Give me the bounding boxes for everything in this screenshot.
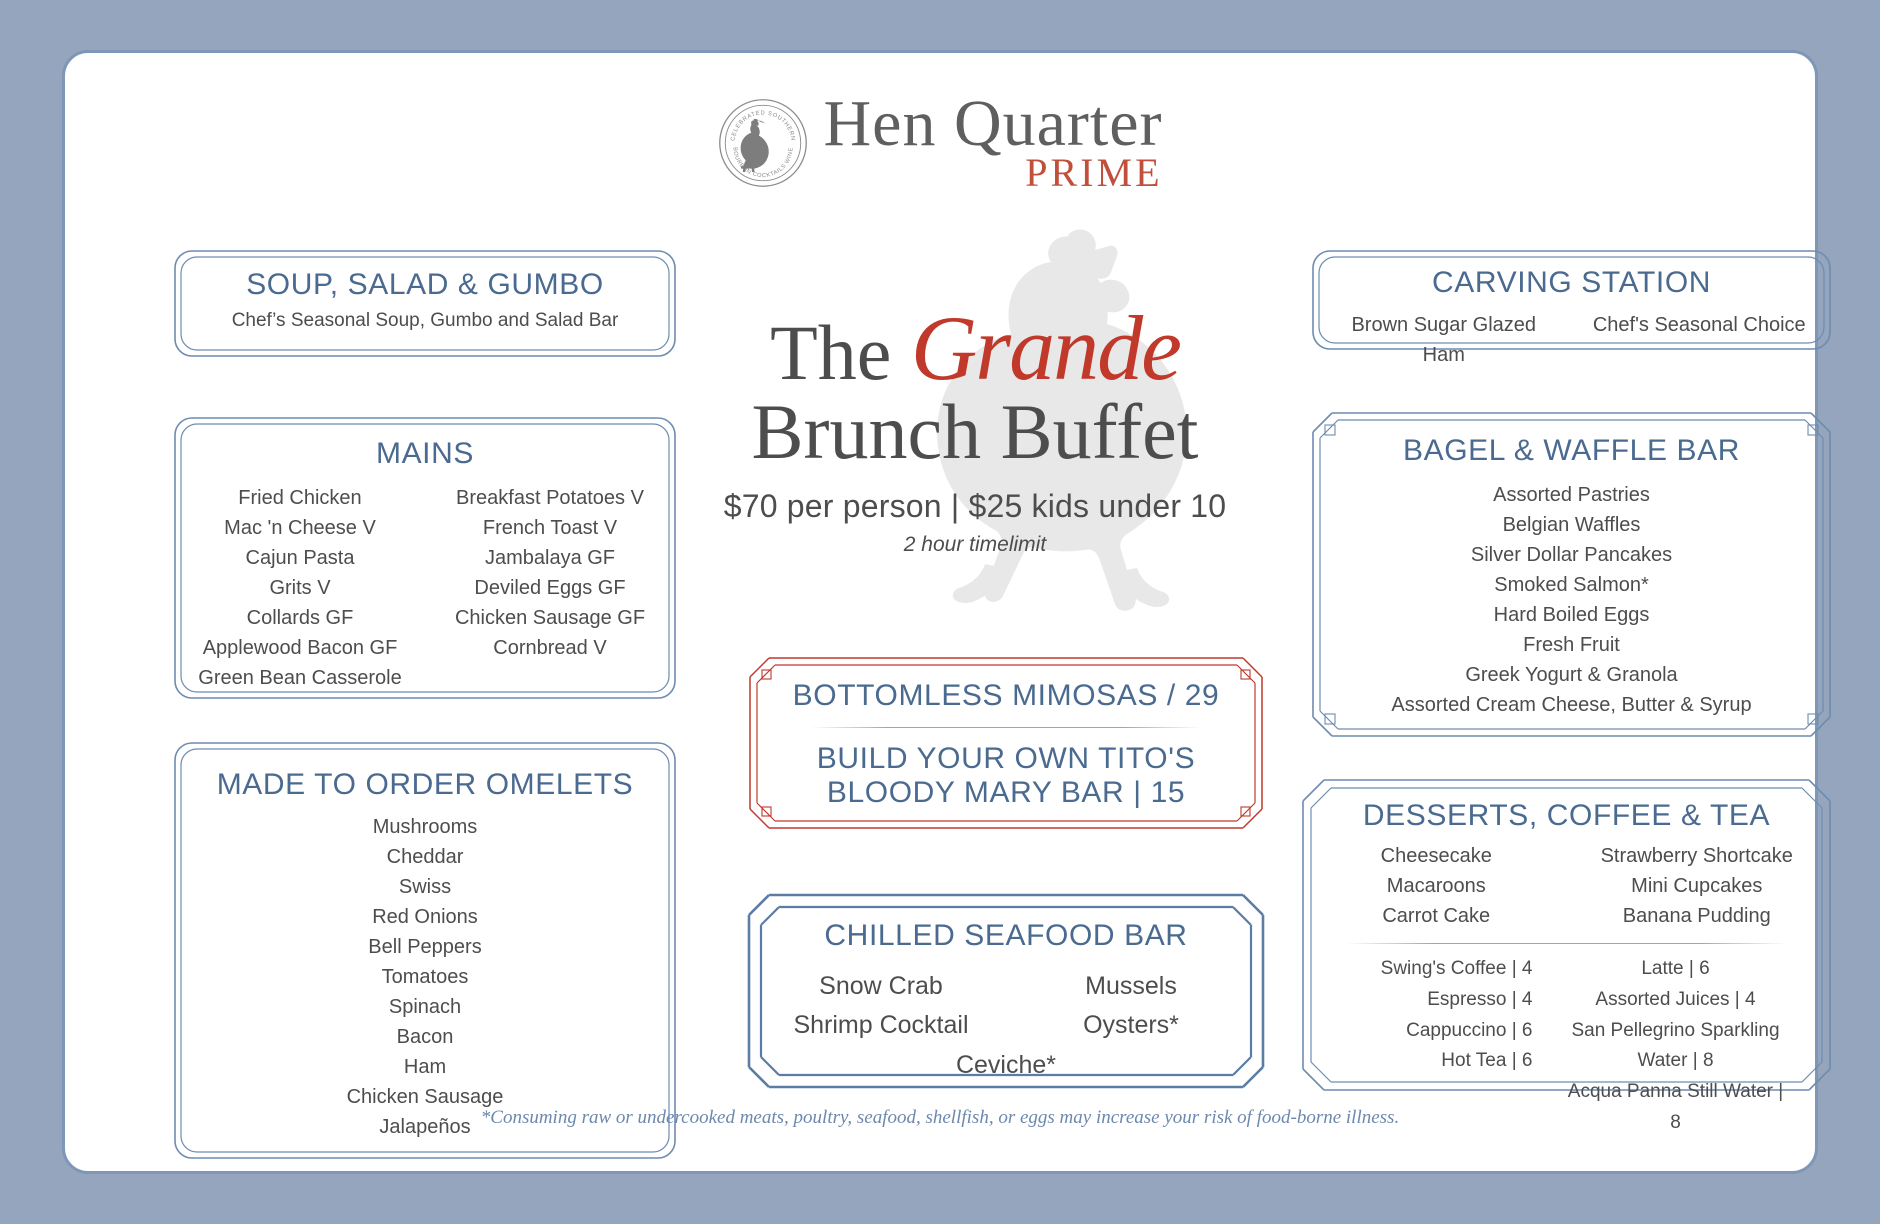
seafood-item: Snow Crab bbox=[771, 967, 991, 1006]
drink-item: Assorted Juices | 4 bbox=[1561, 985, 1791, 1016]
mains-item: Cajun Pasta bbox=[196, 543, 404, 573]
omelets-item: Swiss bbox=[196, 872, 654, 902]
mimosas-divider bbox=[811, 727, 1201, 728]
desserts-left-column: Cheesecake Macaroons Carrot Cake bbox=[1324, 841, 1549, 931]
mains-item: Mac 'n Cheese V bbox=[196, 513, 404, 543]
seafood-item-ceviche: Ceviche* bbox=[771, 1047, 1241, 1085]
menu-page: CELEBRATED SOUTHERN BOURBON COCKTAILS WI… bbox=[62, 50, 1818, 1174]
dessert-item: Carrot Cake bbox=[1324, 901, 1549, 931]
bloody-mary-line-1: BUILD YOUR OWN TITO'S bbox=[771, 742, 1241, 776]
bagel-item: Greek Yogurt & Granola bbox=[1334, 660, 1809, 690]
omelets-box: MADE TO ORDER OMELETS Mushrooms Cheddar … bbox=[170, 738, 680, 1163]
allergen-disclaimer: *Consuming raw or undercooked meats, pou… bbox=[65, 1107, 1815, 1129]
bloody-mary-line-2: BLOODY MARY BAR | 15 bbox=[771, 776, 1241, 810]
brand-name: Hen Quarter bbox=[823, 91, 1162, 157]
mimosas-box: BOTTOMLESS MIMOSAS / 29 BUILD YOUR OWN T… bbox=[745, 653, 1267, 833]
omelets-title: MADE TO ORDER OMELETS bbox=[196, 768, 654, 802]
bagel-waffle-box: BAGEL & WAFFLE BAR Assorted Pastries Bel… bbox=[1308, 408, 1835, 741]
hero-line-2: Brunch Buffet bbox=[705, 391, 1245, 472]
bagel-list: Assorted Pastries Belgian Waffles Silver… bbox=[1334, 480, 1809, 720]
omelets-item: Bell Peppers bbox=[196, 932, 654, 962]
mains-item: Jambalaya GF bbox=[446, 543, 654, 573]
mimosas-headline: BOTTOMLESS MIMOSAS / 29 bbox=[771, 679, 1241, 713]
bagel-item: Assorted Cream Cheese, Butter & Syrup bbox=[1334, 690, 1809, 720]
hero-line-1: The Grande bbox=[705, 301, 1245, 397]
mains-item: Green Bean Casserole bbox=[196, 663, 404, 693]
omelets-item: Tomatoes bbox=[196, 962, 654, 992]
brand-header: CELEBRATED SOUTHERN BOURBON COCKTAILS WI… bbox=[65, 91, 1815, 196]
omelets-item: Bacon bbox=[196, 1022, 654, 1052]
soup-title: SOUP, SALAD & GUMBO bbox=[196, 268, 654, 302]
drink-item: Espresso | 4 bbox=[1343, 985, 1533, 1016]
seafood-left-column: Snow Crab Shrimp Cocktail bbox=[771, 967, 991, 1045]
omelets-list: Mushrooms Cheddar Swiss Red Onions Bell … bbox=[196, 812, 654, 1142]
bagel-item: Assorted Pastries bbox=[1334, 480, 1809, 510]
mains-item: Breakfast Potatoes V bbox=[446, 483, 654, 513]
mains-item: French Toast V bbox=[446, 513, 654, 543]
drink-item: Latte | 6 bbox=[1561, 954, 1791, 985]
seafood-title: CHILLED SEAFOOD BAR bbox=[771, 919, 1241, 953]
omelets-item: Cheddar bbox=[196, 842, 654, 872]
mains-item: Fried Chicken bbox=[196, 483, 404, 513]
mains-right-column: Breakfast Potatoes V French Toast V Jamb… bbox=[446, 483, 654, 693]
mains-item: Collards GF bbox=[196, 603, 404, 633]
drink-item: Hot Tea | 6 bbox=[1343, 1046, 1533, 1077]
dessert-item: Banana Pudding bbox=[1585, 901, 1810, 931]
omelets-item: Spinach bbox=[196, 992, 654, 1022]
carving-item: Brown Sugar Glazed Ham bbox=[1334, 310, 1554, 370]
brand-wordmark: Hen Quarter PRIME bbox=[823, 91, 1162, 196]
dessert-item: Mini Cupcakes bbox=[1585, 871, 1810, 901]
desserts-right-column: Strawberry Shortcake Mini Cupcakes Banan… bbox=[1585, 841, 1810, 931]
bagel-item: Silver Dollar Pancakes bbox=[1334, 540, 1809, 570]
bagel-item: Belgian Waffles bbox=[1334, 510, 1809, 540]
omelets-item: Ham bbox=[196, 1052, 654, 1082]
bagel-item: Smoked Salmon* bbox=[1334, 570, 1809, 600]
dessert-item: Macaroons bbox=[1324, 871, 1549, 901]
desserts-coffee-tea-box: DESSERTS, COFFEE & TEA Cheesecake Macaro… bbox=[1298, 775, 1835, 1095]
bagel-item: Fresh Fruit bbox=[1334, 630, 1809, 660]
seafood-item: Oysters* bbox=[1021, 1006, 1241, 1045]
mains-left-column: Fried Chicken Mac 'n Cheese V Cajun Past… bbox=[196, 483, 404, 693]
mains-item: Applewood Bacon GF bbox=[196, 633, 404, 663]
omelets-item: Red Onions bbox=[196, 902, 654, 932]
drink-item: San Pellegrino Sparkling Water | 8 bbox=[1561, 1016, 1791, 1078]
omelets-item: Mushrooms bbox=[196, 812, 654, 842]
logo-top-text: CELEBRATED SOUTHERN bbox=[731, 110, 796, 141]
hero-title-block: The Grande Brunch Buffet $70 per person … bbox=[705, 301, 1245, 557]
seafood-box: CHILLED SEAFOOD BAR Snow Crab Shrimp Coc… bbox=[745, 891, 1267, 1091]
seafood-item: Mussels bbox=[1021, 967, 1241, 1006]
hero-price: $70 per person | $25 kids under 10 bbox=[705, 488, 1245, 525]
mains-item: Deviled Eggs GF bbox=[446, 573, 654, 603]
dessert-item: Cheesecake bbox=[1324, 841, 1549, 871]
hero-note: 2 hour timelimit bbox=[705, 533, 1245, 557]
desserts-divider bbox=[1346, 943, 1787, 944]
carving-station-box: CARVING STATION Brown Sugar Glazed Ham C… bbox=[1308, 246, 1835, 354]
bagel-item: Hard Boiled Eggs bbox=[1334, 600, 1809, 630]
soup-salad-gumbo-box: SOUP, SALAD & GUMBO Chef’s Seasonal Soup… bbox=[170, 246, 680, 361]
hen-quarter-logo-icon: CELEBRATED SOUTHERN BOURBON COCKTAILS WI… bbox=[717, 97, 809, 189]
mains-item: Chicken Sausage GF bbox=[446, 603, 654, 633]
carving-item: Chef's Seasonal Choice bbox=[1590, 310, 1810, 370]
hero-word-the: The bbox=[770, 309, 891, 396]
carving-title: CARVING STATION bbox=[1334, 266, 1809, 300]
mains-box: MAINS Fried Chicken Mac 'n Cheese V Caju… bbox=[170, 413, 680, 703]
mains-title: MAINS bbox=[196, 437, 654, 471]
seafood-right-column: Mussels Oysters* bbox=[1021, 967, 1241, 1045]
bagel-title: BAGEL & WAFFLE BAR bbox=[1334, 434, 1809, 468]
svg-text:CELEBRATED SOUTHERN: CELEBRATED SOUTHERN bbox=[731, 110, 796, 141]
drink-item: Cappuccino | 6 bbox=[1343, 1016, 1533, 1047]
hero-word-grande: Grande bbox=[911, 297, 1180, 399]
dessert-item: Strawberry Shortcake bbox=[1585, 841, 1810, 871]
drink-item: Swing's Coffee | 4 bbox=[1343, 954, 1533, 985]
soup-subtitle: Chef’s Seasonal Soup, Gumbo and Salad Ba… bbox=[196, 310, 654, 332]
desserts-title: DESSERTS, COFFEE & TEA bbox=[1324, 799, 1809, 833]
mains-item: Cornbread V bbox=[446, 633, 654, 663]
seafood-item: Shrimp Cocktail bbox=[771, 1006, 991, 1045]
mains-item: Grits V bbox=[196, 573, 404, 603]
